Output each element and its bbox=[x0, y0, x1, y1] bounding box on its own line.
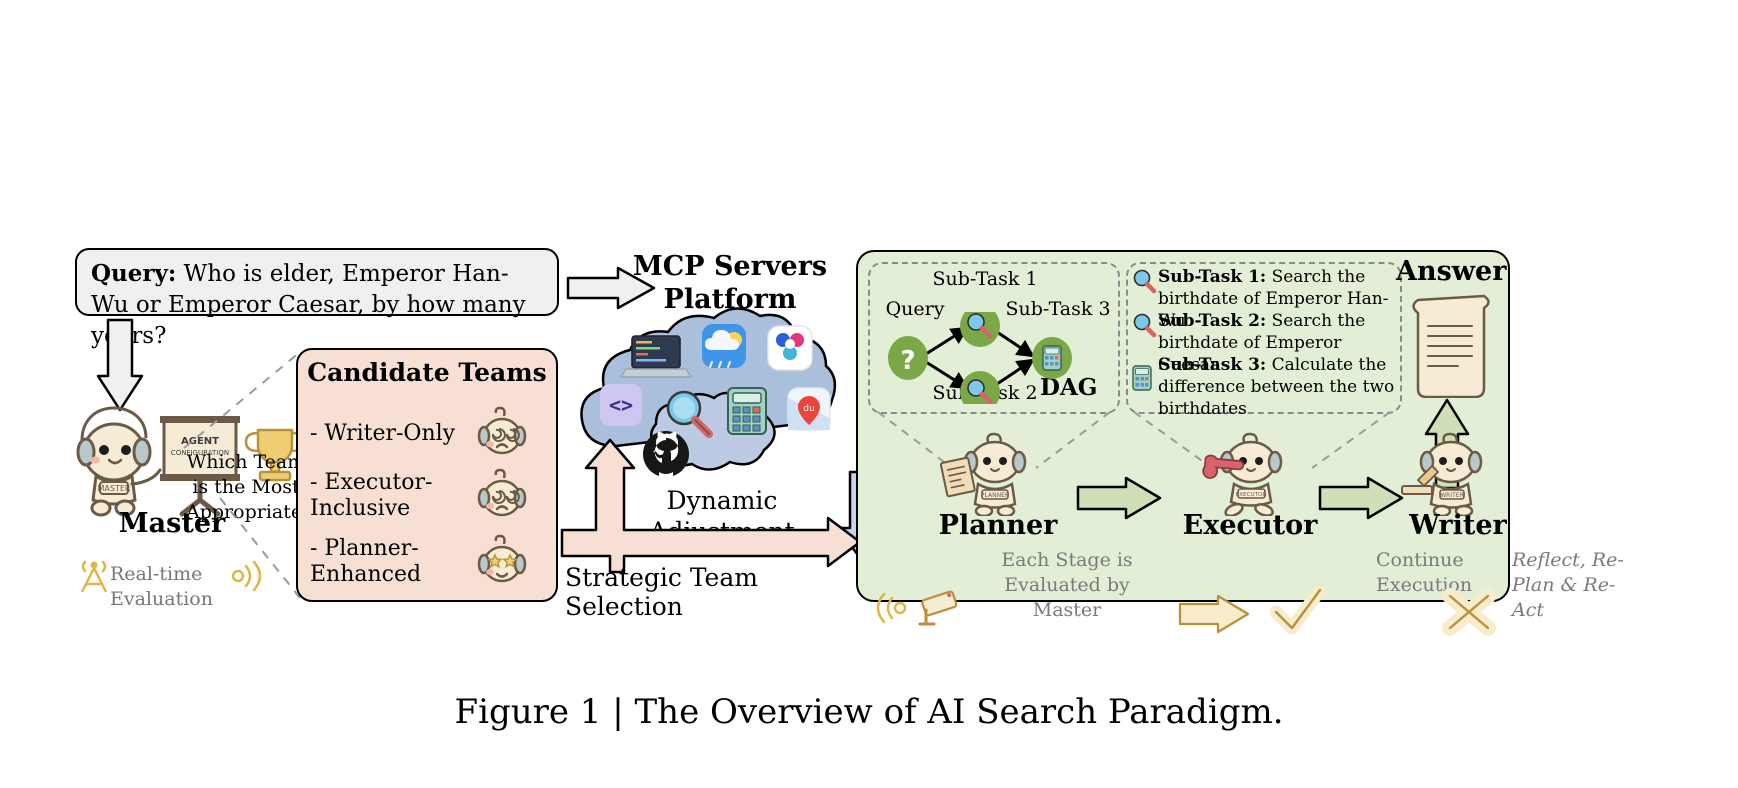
planner-badge-text: PLANNER bbox=[981, 492, 1009, 499]
figure-canvas: Query: Who is elder, Emperor Han-Wu or E… bbox=[0, 0, 1738, 788]
subtask-name-2: Sub-Task 2: bbox=[1158, 311, 1266, 331]
dashed-connector-master-candidates bbox=[180, 348, 310, 608]
executor-robot-icon: EXECUTOR bbox=[1198, 430, 1308, 516]
arrow-strategic-team-selection bbox=[560, 438, 862, 574]
cross-icon bbox=[1440, 586, 1498, 638]
signal-waves-icon bbox=[870, 592, 908, 624]
calculator-icon bbox=[728, 388, 766, 434]
evaluation-text: Each Stage is Evaluated by Master bbox=[972, 548, 1162, 623]
magnifier-icon bbox=[1131, 268, 1157, 294]
query-box: Query: Who is elder, Emperor Han-Wu or E… bbox=[75, 248, 559, 316]
cctv-camera-icon bbox=[912, 588, 964, 630]
candidate-item-label: - Planner-Enhanced bbox=[310, 536, 470, 588]
calculator-icon bbox=[1131, 364, 1153, 392]
query-label: Query: bbox=[91, 260, 176, 287]
answer-label: Answer bbox=[1396, 256, 1506, 287]
check-icon bbox=[1270, 586, 1326, 636]
dag-graph: ? bbox=[880, 312, 1110, 404]
sad-robot-face-icon bbox=[474, 406, 530, 462]
candidate-teams-title: Candidate Teams bbox=[296, 358, 558, 387]
star-eyes-robot-face-icon bbox=[474, 534, 530, 590]
antenna-icon bbox=[76, 556, 112, 596]
candidate-item-executor-inclusive[interactable]: - Executor-Inclusive bbox=[310, 468, 550, 524]
sad-robot-face-icon bbox=[474, 468, 530, 524]
baidu-flower-icon bbox=[768, 326, 812, 370]
master-badge-text: MASTER bbox=[98, 484, 131, 493]
executor-badge-text: EXECUTOR bbox=[1236, 492, 1267, 498]
weather-icon bbox=[702, 324, 746, 368]
candidate-item-planner-enhanced[interactable]: - Planner-Enhanced bbox=[310, 534, 550, 590]
svg-text:?: ? bbox=[900, 346, 915, 376]
planner-robot-icon: PLANNER bbox=[940, 430, 1050, 516]
svg-text:<>: <> bbox=[609, 393, 633, 417]
writer-badge-text: WRITER bbox=[1440, 492, 1464, 499]
writer-robot-icon: WRITER bbox=[1398, 430, 1508, 516]
code-terminal-icon bbox=[621, 336, 691, 377]
reflect-replan-text: Reflect, Re-Plan & Re-Act bbox=[1512, 548, 1632, 623]
dag-node-query: ? bbox=[888, 336, 928, 380]
strategic-team-selection-label: Strategic Team Selection bbox=[565, 563, 865, 621]
subtask-name-3: Sub-Task 3: bbox=[1158, 355, 1266, 375]
figure-caption: Figure 1 | The Overview of AI Search Par… bbox=[0, 692, 1738, 732]
planner-label: Planner bbox=[908, 510, 1088, 541]
dag-node-subtask2 bbox=[960, 371, 1000, 404]
candidate-item-writer-only[interactable]: - Writer-Only bbox=[310, 406, 550, 462]
code-brackets-icon: <> bbox=[600, 384, 642, 426]
candidate-item-label: - Writer-Only bbox=[310, 421, 470, 447]
arrow-planner-to-executor bbox=[1076, 476, 1164, 520]
dag-node-subtask1 bbox=[960, 312, 1000, 347]
writer-label: Writer bbox=[1378, 510, 1538, 541]
magnifier-icon bbox=[1131, 312, 1157, 338]
subtask-name-1: Sub-Task 1: bbox=[1158, 267, 1266, 287]
svg-text:du: du bbox=[803, 404, 814, 414]
candidate-item-label: - Executor-Inclusive bbox=[310, 470, 470, 522]
executor-label: Executor bbox=[1160, 510, 1340, 541]
dag-node-subtask3 bbox=[1032, 337, 1072, 379]
dag-node-label-subtask1: Sub-Task 1 bbox=[930, 268, 1040, 290]
map-pin-icon: du bbox=[788, 388, 830, 430]
arrow-evaluation-result bbox=[1178, 594, 1252, 634]
answer-scroll-icon bbox=[1404, 292, 1490, 398]
